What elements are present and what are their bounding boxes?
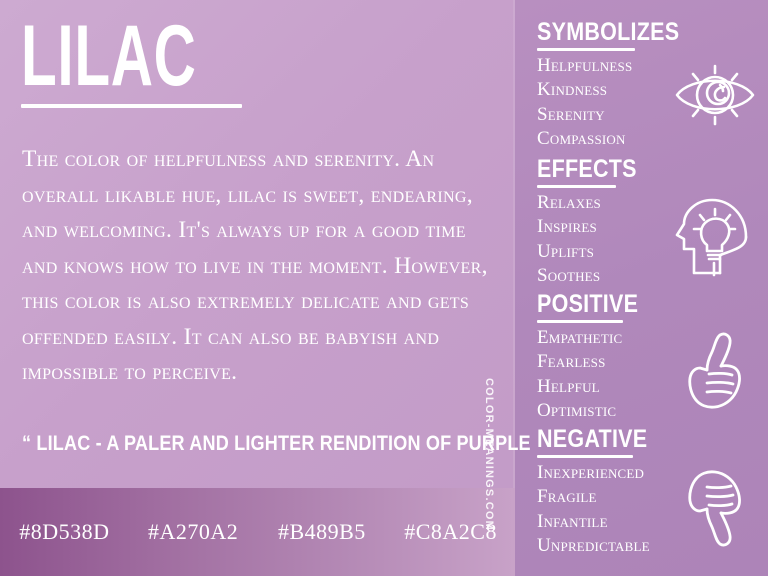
section-negative: NEGATIVE Inexperienced Fragile Infantile…	[537, 425, 762, 559]
site-watermark: COLOR-MEANINGS.COM	[483, 378, 495, 538]
list-item: Compassion	[537, 127, 762, 152]
section-positive: POSITIVE Empathetic Fearless Helpful Opt…	[537, 290, 762, 424]
section-symbolizes: SYMBOLIZES Helpfulness Kindness Serenity…	[537, 18, 762, 152]
quote-text: “ LILAC - A PALER AND LIGHTER RENDITION …	[22, 432, 435, 456]
section-effects: EFFECTS Relaxes Inspires Uplifts Soothes	[537, 155, 762, 289]
swatch-hex-4: #C8A2C8	[386, 519, 515, 545]
eye-icon	[672, 60, 758, 130]
section-underline	[537, 320, 623, 323]
swatch-hex-2: #A270A2	[129, 519, 258, 545]
page-title: LILAC	[21, 14, 341, 98]
thumbs-down-icon	[676, 467, 748, 549]
section-underline	[537, 455, 633, 458]
color-swatch-band: #8D538D #A270A2 #B489B5 #C8A2C8	[0, 488, 515, 576]
title-block: LILAC	[21, 14, 491, 108]
head-lightbulb-icon	[674, 193, 754, 279]
section-header-negative: NEGATIVE	[537, 425, 731, 454]
section-underline	[537, 185, 616, 188]
description-paragraph: The color of helpfulness and serenity. A…	[22, 142, 500, 391]
title-underline	[21, 104, 242, 108]
thumbs-up-icon	[676, 330, 748, 412]
section-header-effects: EFFECTS	[537, 155, 731, 184]
section-header-symbolizes: SYMBOLIZES	[537, 18, 731, 47]
swatch-hex-1: #8D538D	[0, 519, 129, 545]
swatch-hex-3: #B489B5	[258, 519, 387, 545]
section-underline	[537, 48, 635, 51]
section-header-positive: POSITIVE	[537, 290, 731, 319]
color-meaning-infographic: LILAC The color of helpfulness and seren…	[0, 0, 768, 576]
